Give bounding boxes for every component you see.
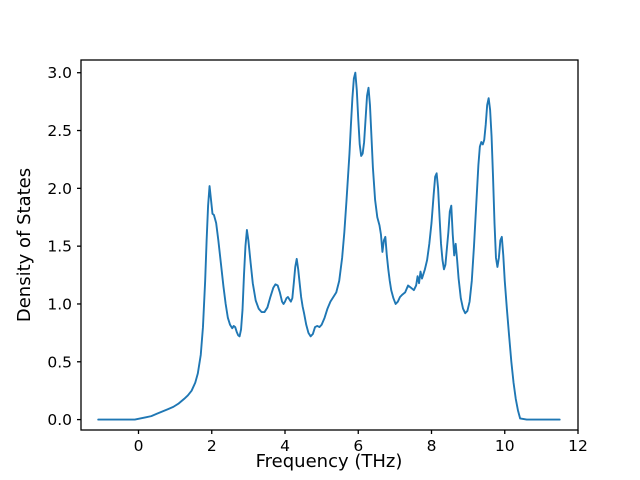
y-tick-label: 0.0: [47, 411, 72, 429]
figure-canvas: 024681012 0.00.51.01.52.02.53.0 Frequenc…: [0, 0, 640, 480]
x-axis-label: Frequency (THz): [256, 451, 403, 472]
y-tick-label: 2.0: [47, 180, 72, 198]
x-tick-label: 8: [427, 437, 437, 455]
series-line: [98, 73, 559, 420]
y-tick-label: 1.0: [47, 295, 72, 313]
y-axis-ticks: 0.00.51.01.52.02.53.0: [47, 64, 81, 429]
axes-spines: [81, 60, 578, 430]
y-tick-label: 1.5: [47, 238, 72, 256]
data-series-group: [98, 73, 559, 420]
y-tick-label: 2.5: [47, 122, 72, 140]
x-tick-label: 12: [568, 437, 588, 455]
x-tick-label: 2: [207, 437, 217, 455]
x-tick-label: 10: [495, 437, 515, 455]
y-axis-label: Density of States: [14, 168, 35, 322]
x-tick-label: 0: [134, 437, 144, 455]
y-tick-label: 3.0: [47, 64, 72, 82]
density-of-states-plot: 024681012 0.00.51.01.52.02.53.0 Frequenc…: [0, 0, 640, 480]
y-tick-label: 0.5: [47, 353, 72, 371]
